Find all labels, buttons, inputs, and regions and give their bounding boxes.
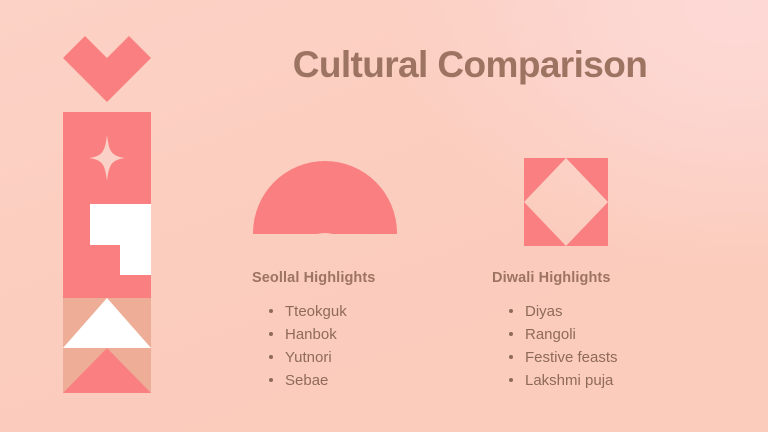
list-item: Hanbok (268, 323, 347, 346)
sparkle-block (63, 112, 151, 204)
stair-upper-part (90, 204, 151, 245)
sparkle-icon (89, 135, 125, 181)
list-item-label: Hanbok (285, 326, 337, 343)
heart-icon (63, 36, 151, 112)
list-item-label: Yutnori (285, 349, 332, 366)
salmon-triangle-block (63, 348, 151, 393)
diwali-heading: Diwali Highlights (492, 270, 611, 286)
stair-lower-part (120, 245, 151, 275)
list-item-label: Diyas (525, 303, 563, 320)
list-item: Sebae (268, 369, 347, 392)
list-item: Tteokguk (268, 300, 347, 323)
bullet-icon (269, 332, 273, 336)
bullet-icon (269, 355, 273, 359)
bullet-icon (509, 378, 513, 382)
list-item: Diyas (508, 300, 618, 323)
seollal-heading: Seollal Highlights (252, 270, 375, 286)
list-item-label: Lakshmi puja (525, 372, 613, 389)
list-item-label: Sebae (285, 372, 328, 389)
bowtie-upper-triangle (524, 158, 608, 202)
bowtie-lower-triangle (524, 202, 608, 246)
bullet-icon (509, 355, 513, 359)
list-item-label: Tteokguk (285, 303, 347, 320)
bullet-icon (269, 309, 273, 313)
page-title: Cultural Comparison (210, 44, 730, 86)
slide-canvas: Cultural Comparison Seollal Highlights T… (0, 0, 768, 432)
arch-outer (253, 161, 397, 234)
seollal-highlight-list: Tteokguk Hanbok Yutnori Sebae (268, 300, 347, 392)
white-triangle-block (63, 298, 151, 348)
triangle-up-icon (63, 348, 151, 393)
diwali-highlight-list: Diyas Rangoli Festive feasts Lakshmi puj… (508, 300, 618, 392)
bullet-icon (269, 378, 273, 382)
arch-shape (253, 161, 397, 234)
list-item: Festive feasts (508, 346, 618, 369)
list-item-label: Rangoli (525, 326, 576, 343)
stair-block (63, 204, 151, 298)
triangle-up-icon (63, 298, 151, 348)
bullet-icon (509, 309, 513, 313)
list-item-label: Festive feasts (525, 349, 618, 366)
list-item: Yutnori (268, 346, 347, 369)
bowtie-shape (524, 158, 608, 246)
list-item: Lakshmi puja (508, 369, 618, 392)
stair-shape (90, 204, 151, 275)
decorative-shape-column (63, 36, 151, 393)
list-item: Rangoli (508, 323, 618, 346)
bullet-icon (509, 332, 513, 336)
